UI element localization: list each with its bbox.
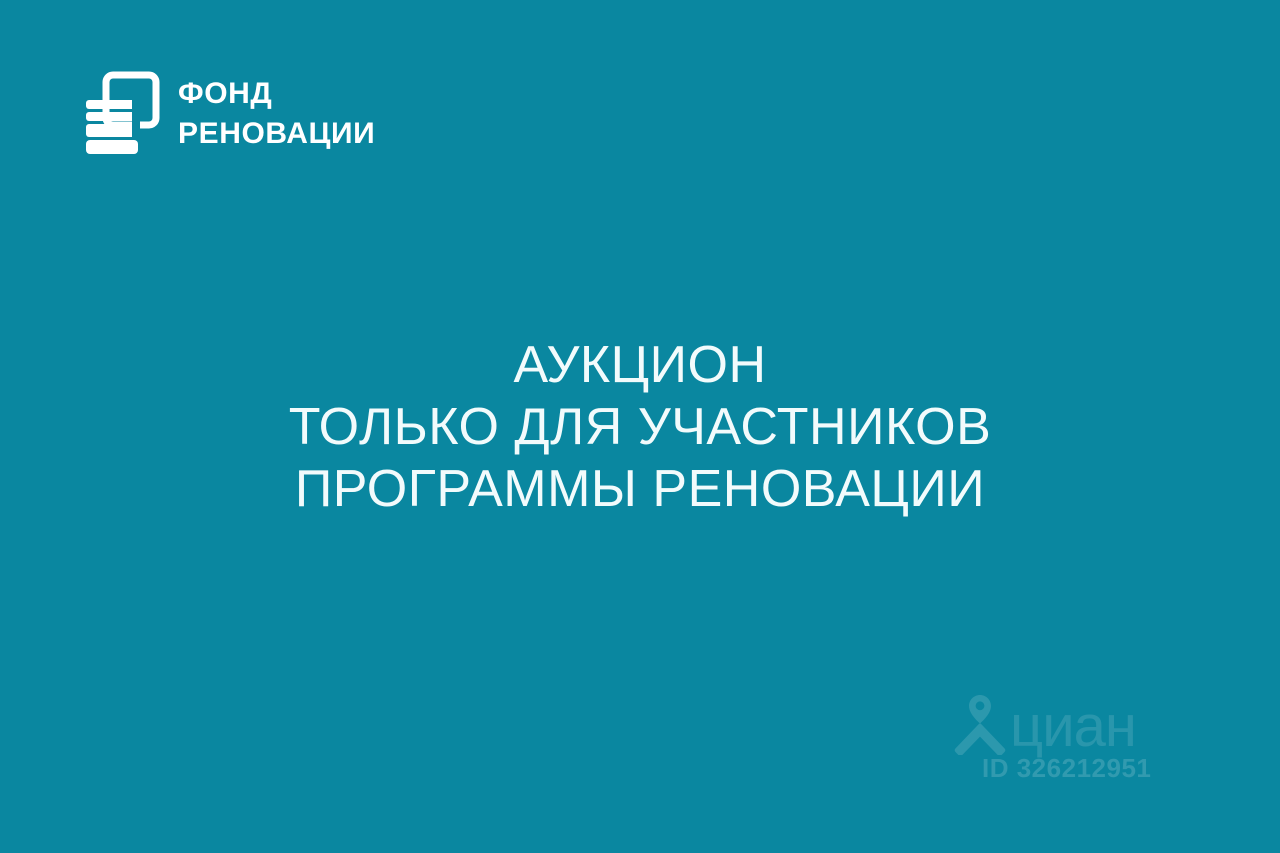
listing-id-label: ID 326212951: [982, 753, 1151, 783]
cian-pin-chevron-icon: [952, 693, 1008, 755]
brand-name-line-2: РЕНОВАЦИИ: [178, 114, 375, 154]
cian-logo-row: циан: [952, 693, 1136, 755]
stacked-blocks-and-outlined-square-icon: [84, 70, 162, 158]
fond-renovacii-logo: ФОНД РЕНОВАЦИИ: [84, 70, 375, 158]
headline-line-2: ТОЛЬКО ДЛЯ УЧАСТНИКОВ: [0, 396, 1280, 458]
listing-banner: ФОНД РЕНОВАЦИИ АУКЦИОН ТОЛЬКО ДЛЯ УЧАСТН…: [0, 0, 1280, 853]
brand-wordmark: ФОНД РЕНОВАЦИИ: [178, 74, 375, 154]
cian-wordmark: циан: [1010, 699, 1136, 755]
headline-line-3: ПРОГРАММЫ РЕНОВАЦИИ: [0, 458, 1280, 520]
headline: АУКЦИОН ТОЛЬКО ДЛЯ УЧАСТНИКОВ ПРОГРАММЫ …: [0, 334, 1280, 520]
cian-watermark: циан ID 326212951: [952, 693, 1172, 793]
headline-line-1: АУКЦИОН: [0, 334, 1280, 396]
brand-name-line-1: ФОНД: [178, 74, 375, 114]
